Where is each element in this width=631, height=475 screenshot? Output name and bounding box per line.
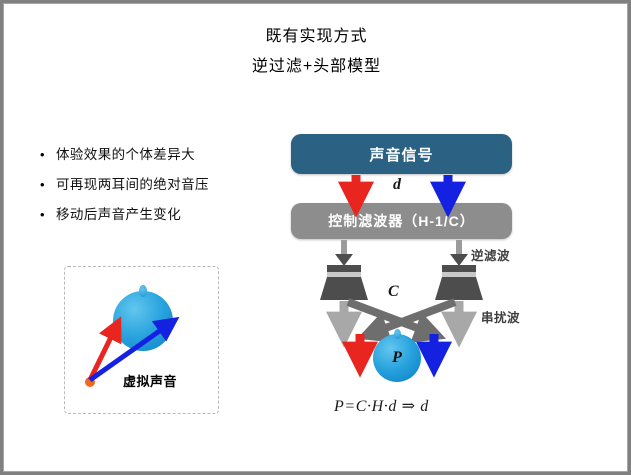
control-filter-box[interactable]: 控制滤波器（H-1/C） (291, 203, 512, 239)
virtual-sound-label: 虚拟声音 (123, 371, 177, 390)
list-item: • 体验效果的个体差异大 (34, 146, 274, 163)
inverse-wave-label: 逆滤波 (471, 245, 510, 264)
bullet-text: 体验效果的个体差异大 (56, 146, 195, 163)
sound-signal-label: 声音信号 (369, 144, 433, 165)
c-variable-label: C (388, 283, 399, 301)
page-title: 既有实现方式 逆过滤+头部模型 (4, 22, 628, 82)
left-speaker-icon (320, 265, 368, 300)
title-line-2: 逆过滤+头部模型 (4, 52, 628, 82)
right-speaker-icon (435, 265, 483, 300)
crosstalk-wave-label: 串扰波 (481, 307, 520, 326)
bullet-list: • 体验效果的个体差异大 • 可再现两耳间的绝对音压 • 移动后声音产生变化 (34, 146, 274, 236)
left-feed-arrowhead (335, 254, 353, 266)
slide-canvas: 既有实现方式 逆过滤+头部模型 • 体验效果的个体差异大 • 可再现两耳间的绝对… (3, 3, 628, 472)
listener-head-icon (113, 291, 173, 351)
sound-signal-box[interactable]: 声音信号 (291, 134, 512, 174)
bullet-text: 可再现两耳间的绝对音压 (56, 176, 209, 193)
bullet-marker-icon: • (34, 206, 56, 223)
red-direction-arrow (90, 329, 115, 380)
sound-source-dot-icon (85, 377, 95, 387)
right-to-left-crosstalk-arrow (375, 302, 455, 332)
bullet-text: 移动后声音产生变化 (56, 206, 181, 223)
bullet-marker-icon: • (34, 176, 56, 193)
p-variable-label: P (392, 349, 402, 367)
d-variable-label: d (393, 176, 401, 194)
bullet-marker-icon: • (34, 146, 56, 163)
formula-text: P=C·H·d ⇒ d (334, 396, 429, 416)
virtual-sound-panel: 虚拟声音 (64, 266, 219, 414)
listener-head-pressure-icon: P (373, 334, 421, 382)
right-feed-arrowhead (450, 254, 468, 266)
title-line-1: 既有实现方式 (4, 22, 628, 52)
control-filter-label: 控制滤波器（H-1/C） (328, 211, 475, 231)
list-item: • 可再现两耳间的绝对音压 (34, 176, 274, 193)
left-to-right-crosstalk-arrow (348, 302, 428, 332)
list-item: • 移动后声音产生变化 (34, 206, 274, 223)
